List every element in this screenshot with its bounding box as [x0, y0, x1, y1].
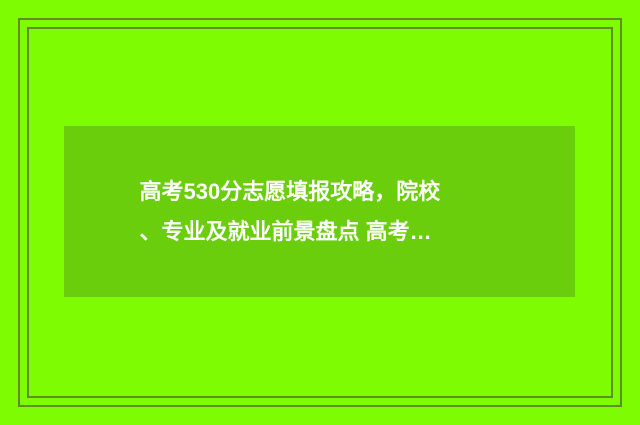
thumbnail-card: 高考530分志愿填报攻略，院校 、专业及就业前景盘点 高考… — [0, 0, 640, 425]
title-text-block: 高考530分志愿填报攻略，院校 、专业及就业前景盘点 高考… — [140, 172, 500, 252]
title-line-1: 高考530分志愿填报攻略，院校 — [140, 172, 500, 212]
title-line-2: 、专业及就业前景盘点 高考… — [140, 212, 500, 252]
title-overlay-panel: 高考530分志愿填报攻略，院校 、专业及就业前景盘点 高考… — [64, 126, 575, 297]
